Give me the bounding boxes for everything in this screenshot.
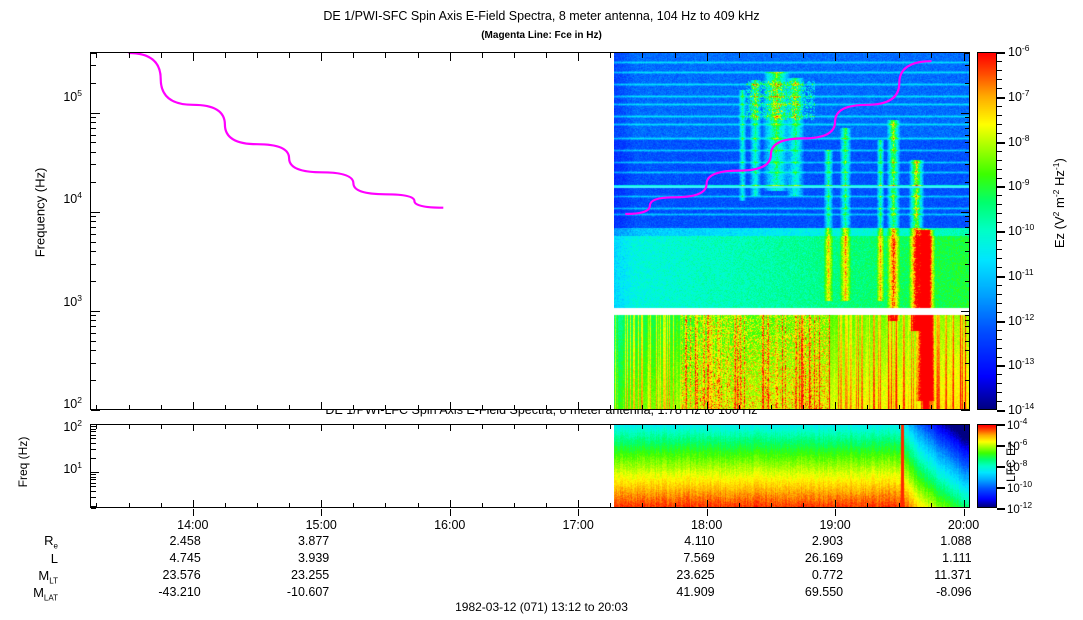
table-cell: 11.371 — [902, 568, 972, 582]
axis-tick — [997, 222, 1002, 223]
sfc-plot-area[interactable] — [91, 53, 969, 409]
axis-tick — [997, 294, 1002, 295]
axis-tick — [997, 330, 1002, 331]
axis-tick — [997, 231, 1005, 233]
axis-tick — [997, 88, 1002, 89]
axis-tick — [835, 509, 836, 516]
axis-tick — [997, 383, 1002, 384]
table-cell: -8.096 — [902, 585, 972, 599]
axis-tick — [997, 357, 1002, 358]
fce-curve-segment-1 — [129, 53, 444, 208]
sfc-panel-subtitle: (Magenta Line: Fce in Hz) — [0, 30, 1083, 41]
sfc-colorbar — [977, 52, 997, 410]
axis-tick — [997, 285, 1002, 286]
axis-tick — [997, 142, 1005, 144]
table-cell: 1.088 — [902, 534, 972, 548]
axis-tick — [997, 106, 1002, 107]
lfc-ytick-1e2: 102 — [36, 418, 82, 434]
sfc-colorbar-label: Ez (V2 m-2 Hz-1) — [1051, 113, 1067, 293]
table-cell: -43.210 — [131, 585, 201, 599]
axis-tick — [997, 133, 1002, 134]
table-cell: -10.607 — [259, 585, 329, 599]
axis-tick — [964, 509, 965, 516]
sfc-colorbar-tick-label: 10-10 — [1008, 222, 1034, 238]
sfc-ytick-1e5: 105 — [36, 88, 82, 104]
table-cell: 23.255 — [259, 568, 329, 582]
table-cell: 69.550 — [773, 585, 843, 599]
row-label-mlat: MLAT — [0, 585, 58, 603]
axis-tick — [997, 339, 1002, 340]
axis-tick — [997, 213, 1002, 214]
sfc-colorbar-tick-label: 10-9 — [1008, 177, 1029, 193]
table-cell: 4.110 — [645, 534, 715, 548]
axis-tick — [997, 124, 1002, 125]
axis-tick — [997, 204, 1002, 205]
lfc-spectrogram-image — [614, 425, 969, 507]
axis-tick — [997, 249, 1002, 250]
axis-tick — [997, 321, 1005, 323]
lfc-plot-area[interactable] — [91, 425, 969, 507]
axis-tick — [193, 509, 194, 516]
axis-tick — [997, 258, 1002, 259]
axis-tick — [997, 312, 1002, 313]
table-cell: 4.745 — [131, 551, 201, 565]
lfc-y-axis-label: Freq (Hz) — [16, 417, 30, 507]
table-cell: 3.939 — [259, 551, 329, 565]
axis-tick — [997, 160, 1002, 161]
axis-tick — [997, 186, 1005, 188]
axis-tick — [997, 348, 1002, 349]
axis-tick — [997, 195, 1002, 196]
axis-tick — [707, 509, 708, 516]
axis-tick — [997, 169, 1002, 170]
footer-date-range: 1982-03-12 (071) 13:12 to 20:03 — [0, 600, 1083, 614]
axis-tick — [997, 374, 1002, 375]
table-cell: 23.576 — [131, 568, 201, 582]
table-cell: 2.903 — [773, 534, 843, 548]
ephemeris-table: Re L MLT MLAT 2.4583.8774.1102.9031.0884… — [0, 516, 1083, 585]
fce-curve-overlay — [91, 53, 969, 409]
table-cell: 2.458 — [131, 534, 201, 548]
axis-tick — [997, 52, 1005, 54]
table-cell: 41.909 — [645, 585, 715, 599]
axis-tick — [997, 70, 1002, 71]
axis-tick — [997, 79, 1002, 80]
table-cell: 0.772 — [773, 568, 843, 582]
axis-tick — [997, 115, 1002, 116]
axis-tick — [997, 392, 1002, 393]
axis-tick — [997, 303, 1002, 304]
axis-tick — [578, 509, 579, 516]
axis-tick — [997, 240, 1002, 241]
table-cell: 26.169 — [773, 551, 843, 565]
sfc-colorbar-tick-label: 10-8 — [1008, 133, 1029, 149]
axis-tick — [997, 508, 1005, 510]
axis-tick — [997, 61, 1002, 62]
sfc-colorbar-tick-label: 10-11 — [1008, 267, 1034, 283]
axis-tick — [997, 151, 1002, 152]
table-cell: 3.877 — [259, 534, 329, 548]
table-cell: 1.111 — [902, 551, 972, 565]
axis-tick — [997, 97, 1005, 99]
axis-tick — [450, 509, 451, 516]
axis-tick — [997, 178, 1002, 179]
axis-tick — [997, 401, 1002, 402]
axis-tick — [997, 365, 1005, 367]
table-cell: 7.569 — [645, 551, 715, 565]
lfc-colorbar — [977, 424, 997, 508]
sfc-panel-title: DE 1/PWI-SFC Spin Axis E-Field Spectra, … — [0, 9, 1083, 23]
sfc-ytick-1e3: 103 — [36, 293, 82, 309]
table-cell: 23.625 — [645, 568, 715, 582]
axis-tick — [997, 267, 1002, 268]
sfc-y-axis-label: Frequency (Hz) — [33, 143, 48, 283]
axis-tick — [321, 509, 322, 516]
axis-tick — [997, 276, 1005, 278]
sfc-colorbar-tick-label: 10-7 — [1008, 88, 1029, 104]
sfc-colorbar-tick-label: 10-12 — [1008, 312, 1034, 328]
sfc-ytick-1e4: 104 — [36, 190, 82, 206]
axis-tick — [91, 508, 96, 509]
sfc-colorbar-tick-label: 10-6 — [1008, 43, 1029, 59]
lfc-colorbar-label: LFC Ez — [1004, 417, 1018, 507]
table-row: Re — [0, 516, 1083, 534]
fce-curve-segment-2 — [625, 61, 931, 214]
sfc-colorbar-tick-label: 10-13 — [1008, 356, 1034, 372]
sfc-ytick-1e2: 102 — [36, 395, 82, 411]
lfc-ytick-1e1: 101 — [36, 460, 82, 476]
